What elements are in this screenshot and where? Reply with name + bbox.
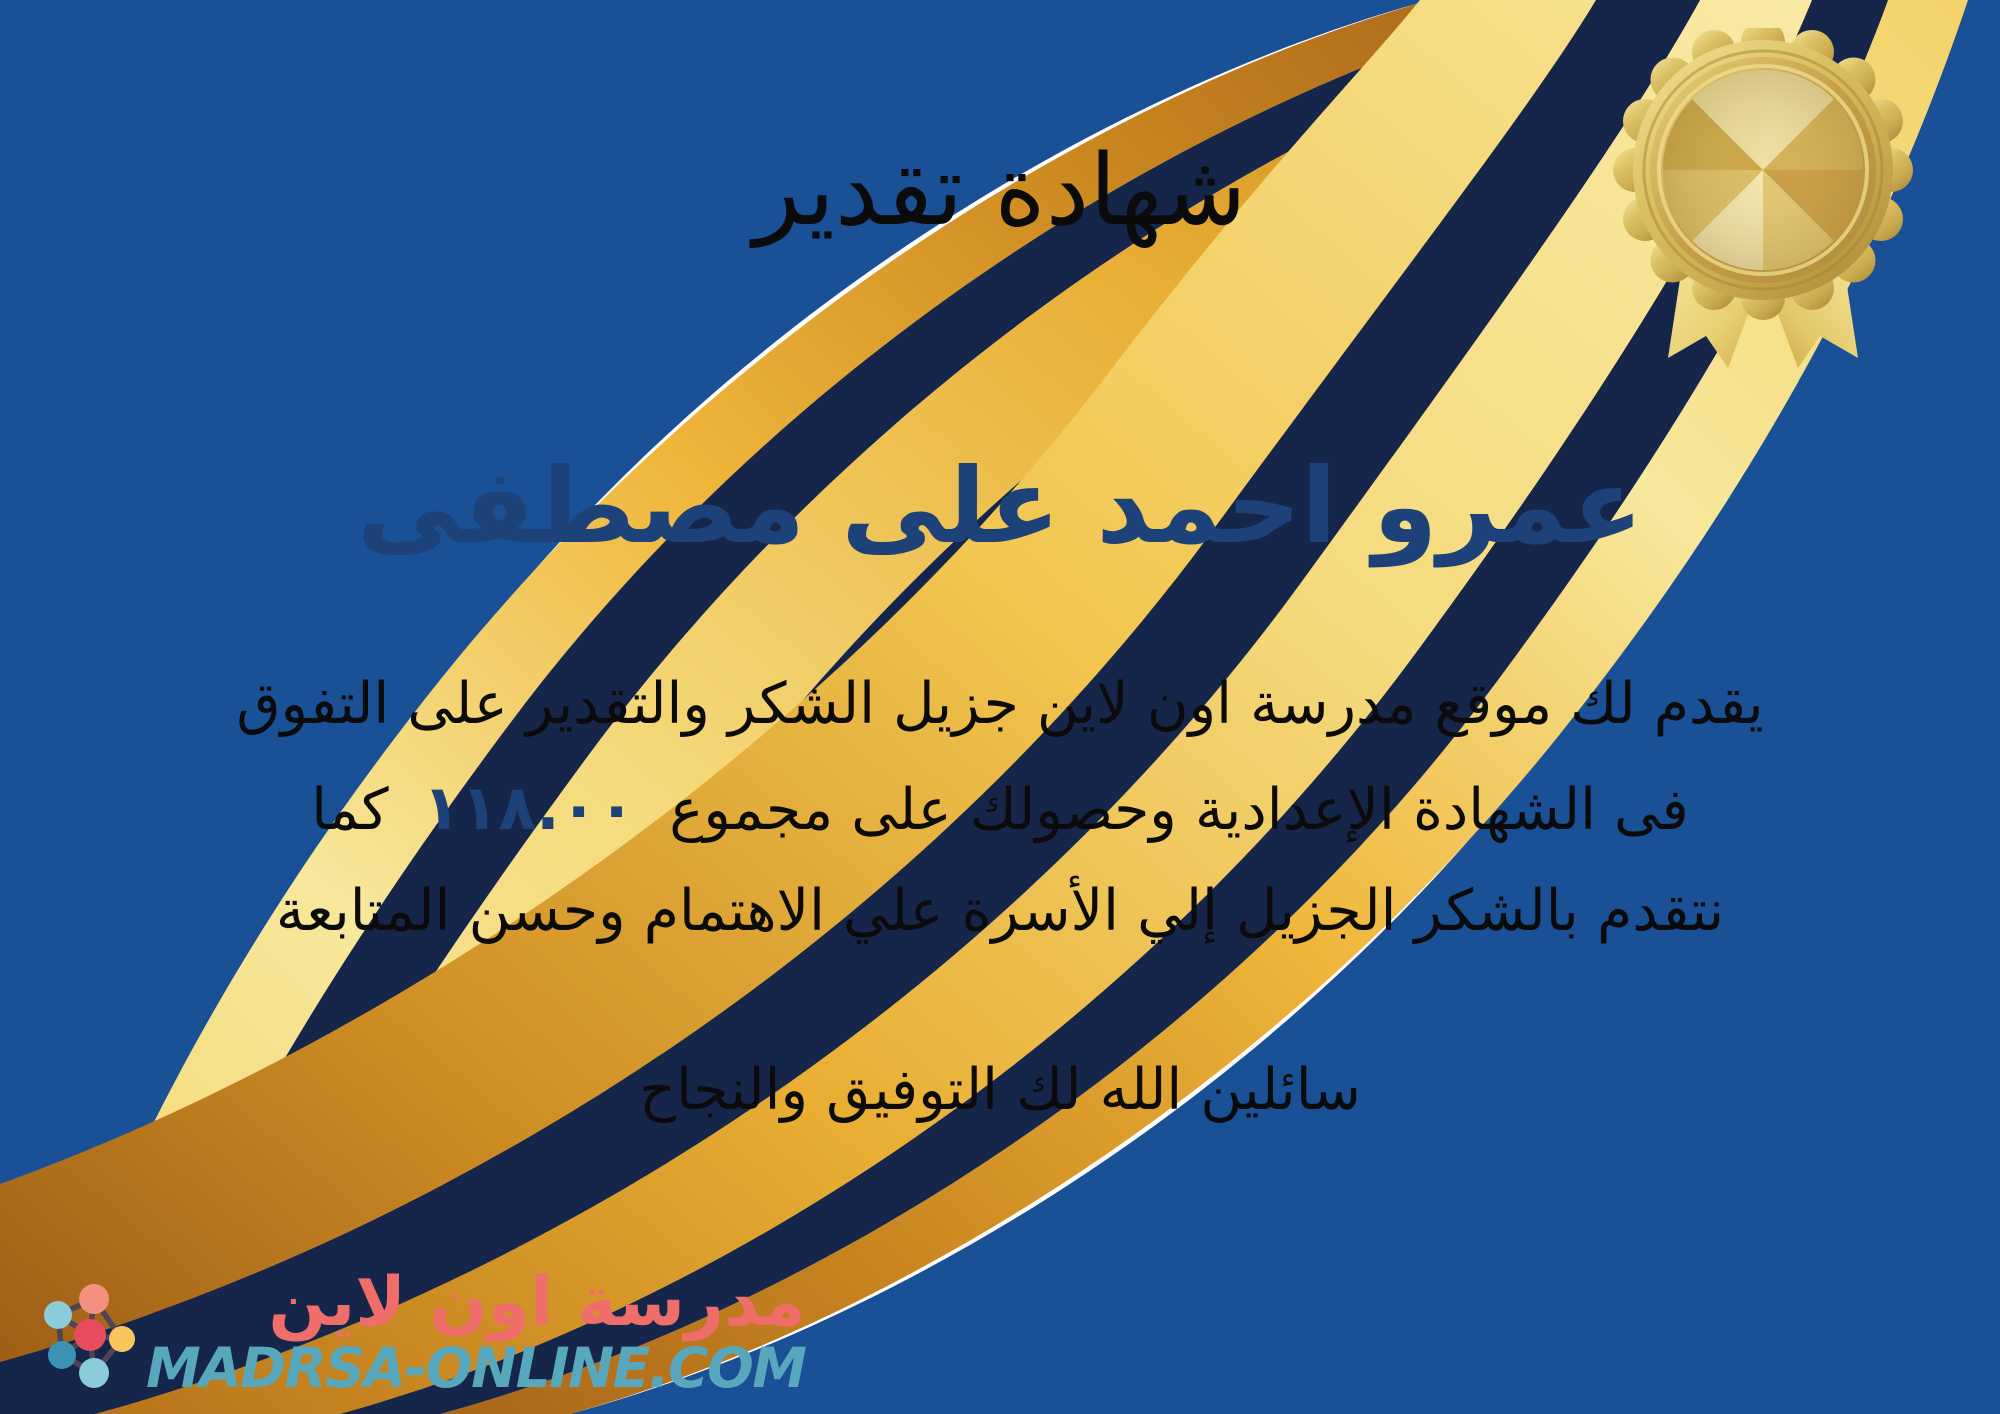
body-line-2-prefix: فى الشهادة الإعدادية وحصولك على مجموع (669, 777, 1688, 843)
network-nodes-icon (28, 1277, 140, 1389)
page-title: شهادة تقدير (754, 140, 1247, 243)
recipient-name: عمرو احمد على مصطفى (357, 449, 1643, 563)
certificate-content: شهادة تقدير عمرو احمد على مصطفى يقدم لك … (0, 0, 2000, 1414)
certificate-body: يقدم لك موقع مدرسة اون لاين جزيل الشكر و… (70, 655, 1930, 961)
body-line-1: يقدم لك موقع مدرسة اون لاين جزيل الشكر و… (70, 655, 1930, 754)
brand-logo: مدرسة اون لاين MADRSA-ONLINE.COM (28, 1269, 805, 1396)
grade-total-value: ١١٨.٠٠ (389, 771, 670, 844)
brand-text: مدرسة اون لاين MADRSA-ONLINE.COM (146, 1269, 805, 1396)
body-line-2: فى الشهادة الإعدادية وحصولك على مجموع١١٨… (70, 754, 1930, 862)
body-line-3: نتقدم بالشكر الجزيل إلي الأسرة علي الاهت… (70, 862, 1930, 961)
body-line-2-suffix: كما (311, 777, 388, 843)
brand-website: MADRSA-ONLINE.COM (146, 1341, 805, 1396)
closing-line: سائلين الله لك التوفيق والنجاح (639, 1057, 1361, 1123)
certificate-canvas: شهادة تقدير عمرو احمد على مصطفى يقدم لك … (0, 0, 2000, 1414)
brand-arabic-name: مدرسة اون لاين (268, 1269, 805, 1337)
